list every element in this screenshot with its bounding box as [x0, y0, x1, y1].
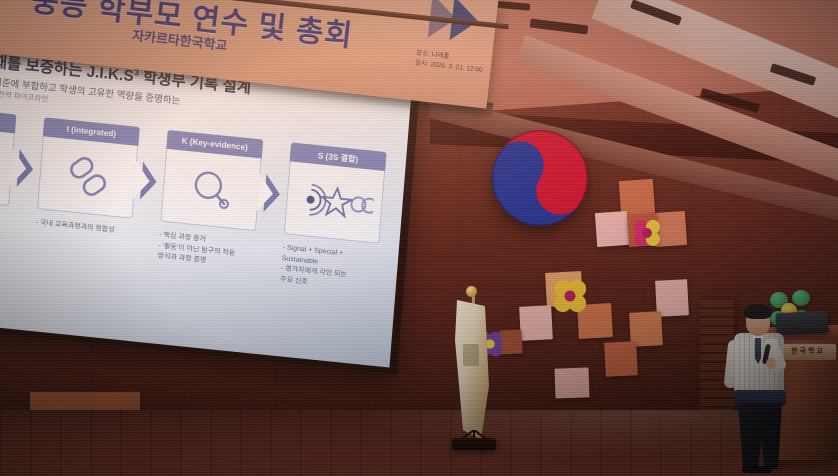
wall-tile — [519, 305, 553, 341]
taegeuk-icon — [492, 130, 588, 226]
pipeline-arrow — [140, 162, 158, 201]
signal-target-icon — [305, 184, 326, 216]
presenter — [722, 300, 802, 472]
flag-finial — [466, 286, 477, 297]
step-body — [37, 136, 138, 218]
pipeline-arrow — [263, 174, 281, 213]
balloon-flower-decor — [552, 278, 588, 314]
step-body — [284, 161, 385, 243]
pipeline-step-i: I (Integrated) - 국내 교육과정과의 정합성 — [35, 117, 139, 238]
flag-emblem — [463, 344, 479, 366]
flower-icon — [632, 218, 662, 248]
step-note-line: - 학교 NEIS 기반의 — [0, 206, 8, 226]
banner-meta: 장소: 나래홀 일시: 2026. 3. 21. 12:00 — [414, 48, 484, 76]
presenter-trousers — [738, 403, 782, 469]
presenter-shoes — [742, 466, 772, 473]
flower-icon — [552, 278, 588, 314]
step-notes: - Signal + Special + Sustainable - 평가자에게… — [280, 243, 379, 295]
step-notes: - 핵심 과정 증거 - '활동'이 아닌 탐구의 작동 방식과 과정 증명 — [157, 231, 255, 272]
pipeline-step-s: S (3S 결합) — [280, 142, 387, 294]
step-note-line: - 국내 교육과정과의 정합성 — [35, 218, 131, 238]
step-header: J (Justified) — [0, 105, 16, 134]
magnifier-icon — [187, 165, 234, 213]
pipeline-step-k: K (Key-evidence) - 핵심 과정 증거 - '활동'이 아닌 탐… — [157, 130, 263, 272]
floor-reflection — [0, 410, 838, 476]
presenter-hand — [766, 358, 776, 369]
wall-tile — [554, 367, 589, 398]
wall-tile — [595, 211, 629, 247]
target-star-infinity-icon — [294, 181, 374, 223]
auditorium-photo: 한국학교 인재를 보증하는 J.I.K.S3 학생부 기록 설계 평가 기준에 … — [0, 0, 838, 476]
wall-tile — [604, 341, 638, 377]
flag-base — [452, 438, 496, 450]
pipeline-arrow — [17, 149, 35, 188]
presenter-hair — [744, 304, 772, 319]
slide-pipeline: J (Justified) - 학교 NEIS 기반의 평가 공정성 — [0, 105, 389, 352]
link-icon — [62, 153, 113, 202]
balloon-flower-decor — [632, 218, 662, 248]
step-notes: - 국내 교육과정과의 정합성 — [35, 218, 131, 238]
step-body — [160, 149, 261, 231]
taegeuk-emblem — [492, 130, 588, 226]
step-notes: - 학교 NEIS 기반의 평가 공정성 — [0, 206, 8, 237]
infinity-icon — [351, 197, 375, 213]
